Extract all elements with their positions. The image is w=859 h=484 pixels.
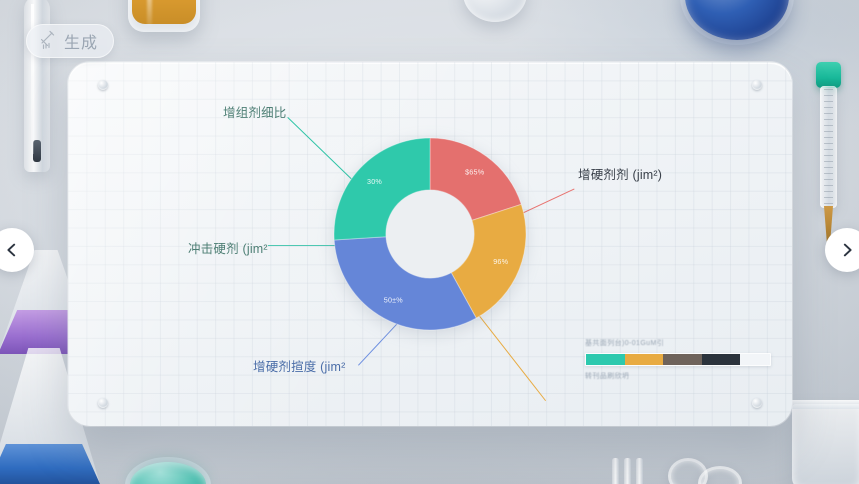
board-screw — [752, 398, 762, 408]
arrow-right-icon — [838, 241, 856, 259]
donut-chart: $65%96%50±%30% — [332, 136, 528, 332]
legend-swatch — [663, 354, 702, 365]
donut-chart-svg: $65%96%50±%30% — [332, 136, 528, 332]
callout-label-teal-left: 冲击硬剂 (jim² — [188, 238, 268, 257]
legend-swatch-bar — [585, 353, 771, 366]
legend-swatch — [740, 354, 770, 365]
callout-label-blue: 增硬剂揎度 (jim² — [253, 356, 345, 375]
legend-panel: 基共面列台)0-01GuM引 转刊品刷欣坍 — [585, 338, 775, 381]
legend-swatch — [702, 354, 741, 365]
generate-button-label: 生成 — [64, 29, 98, 53]
donut-slice-label: 96% — [493, 257, 508, 266]
sparkle-icon — [38, 29, 58, 54]
board-screw — [98, 80, 108, 90]
chart-board: $65%96%50±%30% 增组剂细比 冲击硬剂 (jim² 增硬剂揎度 (j… — [68, 62, 792, 426]
legend-caption-bottom: 转刊品刷欣坍 — [585, 371, 775, 381]
donut-center-hole — [386, 190, 474, 278]
donut-slice-label: 30% — [367, 177, 382, 186]
generate-button[interactable]: 生成 — [26, 24, 114, 58]
board-screw — [752, 80, 762, 90]
arrow-left-icon — [3, 241, 21, 259]
donut-slice-label: $65% — [465, 167, 485, 176]
donut-slice-label: 50±% — [384, 296, 404, 305]
legend-swatch — [625, 354, 664, 365]
board-screw — [98, 398, 108, 408]
callout-label-teal-top: 增组剂细比 — [223, 102, 287, 121]
callout-label-red: 增硬剂剂 (jim²) — [578, 164, 662, 183]
legend-caption-top: 基共面列台)0-01GuM引 — [585, 338, 775, 348]
legend-swatch — [586, 354, 625, 365]
